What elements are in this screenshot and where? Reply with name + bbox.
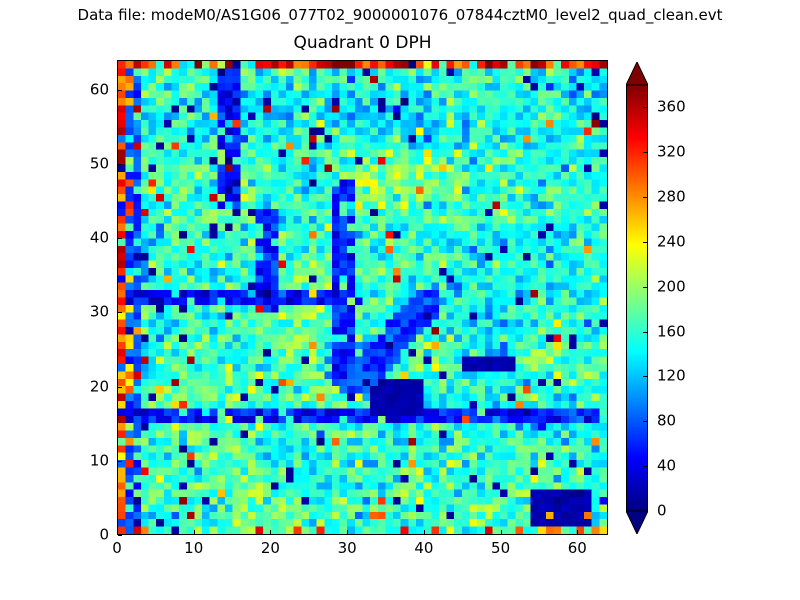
heatmap-axes[interactable] (117, 60, 608, 535)
colorbar-tick-mark (643, 421, 648, 422)
colorbar-tick-label: 280 (657, 189, 686, 206)
y-tick-mark (118, 90, 122, 91)
y-tick-label: 30 (71, 304, 109, 321)
colorbar-tick-mark (643, 511, 648, 512)
y-tick-label: 40 (71, 230, 109, 247)
x-tick-label: 10 (184, 540, 203, 557)
y-tick-mark (118, 238, 122, 239)
x-tick-label: 50 (491, 540, 510, 557)
matplotlib-figure: Data file: modeM0/AS1G06_077T02_90000010… (0, 0, 800, 600)
x-tick-mark (577, 530, 578, 534)
x-tick-mark (347, 530, 348, 534)
x-tick-label: 40 (414, 540, 433, 557)
x-tick-label: 20 (261, 540, 280, 557)
y-tick-label: 20 (71, 378, 109, 395)
y-tick-mark (118, 164, 122, 165)
colorbar-tick-mark (643, 107, 648, 108)
colorbar-tick-label: 320 (657, 144, 686, 161)
y-tick-mark (118, 535, 122, 536)
colorbar[interactable] (626, 62, 648, 534)
x-tick-label: 60 (568, 540, 587, 557)
y-tick-label: 50 (71, 155, 109, 172)
x-tick-label: 30 (338, 540, 357, 557)
x-tick-mark (424, 530, 425, 534)
colorbar-tick-mark (643, 332, 648, 333)
colorbar-tick-label: 40 (657, 458, 676, 475)
x-tick-mark (117, 530, 118, 534)
y-tick-mark (118, 461, 122, 462)
y-tick-label: 0 (71, 527, 109, 544)
colorbar-tick-label: 160 (657, 323, 686, 340)
page-title: Quadrant 0 DPH (117, 33, 608, 53)
colorbar-gradient (626, 62, 648, 534)
colorbar-tick-mark (643, 197, 648, 198)
y-tick-mark (118, 387, 122, 388)
figure-suptitle: Data file: modeM0/AS1G06_077T02_90000010… (0, 6, 800, 24)
y-tick-mark (118, 312, 122, 313)
colorbar-tick-label: 120 (657, 368, 686, 385)
detector-plane-heatmap[interactable] (118, 61, 607, 534)
colorbar-tick-label: 80 (657, 413, 676, 430)
colorbar-tick-label: 240 (657, 233, 686, 250)
y-tick-label: 10 (71, 452, 109, 469)
x-tick-mark (270, 530, 271, 534)
colorbar-tick-label: 200 (657, 278, 686, 295)
colorbar-tick-label: 360 (657, 99, 686, 116)
x-tick-label: 0 (112, 540, 122, 557)
colorbar-tick-mark (643, 466, 648, 467)
colorbar-tick-mark (643, 242, 648, 243)
colorbar-tick-mark (643, 376, 648, 377)
x-tick-mark (194, 530, 195, 534)
colorbar-tick-mark (643, 287, 648, 288)
x-tick-mark (501, 530, 502, 534)
colorbar-tick-label: 0 (657, 503, 667, 520)
y-tick-label: 60 (71, 81, 109, 98)
colorbar-tick-mark (643, 152, 648, 153)
